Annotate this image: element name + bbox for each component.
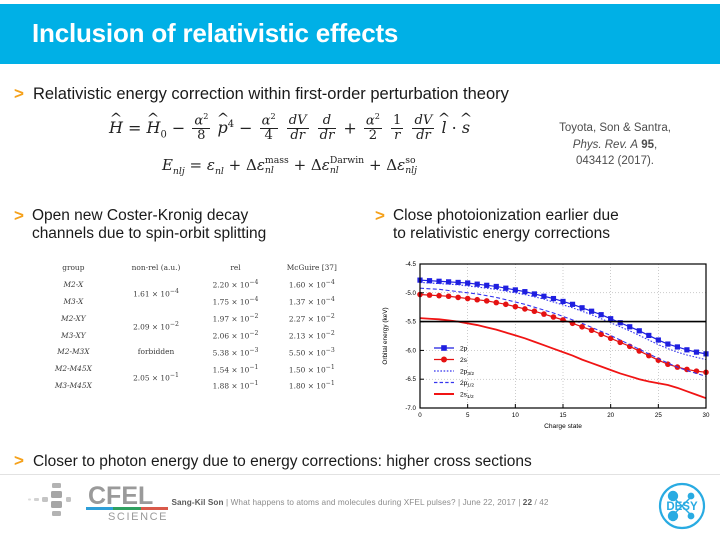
orbital-energy-plot: 051015202530-4.5-5.0-5.5-6.0-6.5-7.0Char… xyxy=(378,256,714,448)
bullet-item-4: >Closer to photon energy due to energy c… xyxy=(14,452,714,471)
footer-divider xyxy=(0,474,720,475)
cfel-logo-subtext: SCIENCE xyxy=(108,511,168,523)
footer-info: Sang-Kil Son | What happens to atoms and… xyxy=(0,498,720,507)
bullet-item-3-line2: to relativistic energy corrections xyxy=(393,225,610,242)
d-dr-fraction: d dr xyxy=(318,114,337,143)
cell-group: M2-XY xyxy=(32,310,115,327)
cell-nonrel: forbidden xyxy=(115,344,198,361)
footer-page-number: 22 xyxy=(523,498,532,507)
bullet-item-3-line1: Close photoionization earlier due xyxy=(393,207,619,224)
cell-mcguire: 5.50 × 10−3 xyxy=(274,344,350,361)
citation-journal-line: Phys. Rev. A 95, xyxy=(515,137,715,154)
citation-journal: Phys. Rev. A xyxy=(573,139,638,151)
svg-text:-5.0: -5.0 xyxy=(405,290,416,297)
cell-group: M3-M45X xyxy=(32,377,115,394)
coster-kronig-rates-table: group non-rel (a.u.) rel McGuire [37] M2… xyxy=(32,260,350,394)
cell-rel: 1.88 × 10−1 xyxy=(197,377,273,394)
alpha-squared-over-2-fraction: α2 2 xyxy=(364,112,382,143)
bullet-item-3-label: Close photoionization earlier dueto rela… xyxy=(393,207,693,244)
cell-group: M2-M45X xyxy=(32,360,115,377)
svg-text:-4.5: -4.5 xyxy=(405,261,416,268)
citation-comma: , xyxy=(654,139,657,151)
bullet-item-1-label: Relativistic energy correction within fi… xyxy=(33,85,509,103)
footer-author: Sang-Kil Son xyxy=(171,498,223,507)
svg-text:2s: 2s xyxy=(460,357,468,364)
cell-group: M3-X xyxy=(32,293,115,310)
cell-mcguire: 1.37 × 10−4 xyxy=(274,293,350,310)
dv-dr-fraction-2: dV dr xyxy=(412,114,434,143)
slide-header-bar: Inclusion of relativistic effects xyxy=(0,4,720,64)
cell-rel: 2.20 × 10−4 xyxy=(197,276,273,293)
svg-text:2p1/2: 2p1/2 xyxy=(460,380,474,389)
svg-text:-7.0: -7.0 xyxy=(405,405,416,412)
citation-pages: 043412 (2017). xyxy=(515,153,715,170)
svg-text:2p: 2p xyxy=(460,345,468,352)
svg-text:-5.5: -5.5 xyxy=(405,319,416,326)
table-row: M2-M45X 2.05 × 10−1 1.54 × 10−1 1.50 × 1… xyxy=(32,360,350,377)
footer-sep-2: | xyxy=(458,498,460,507)
svg-text:-6.0: -6.0 xyxy=(405,347,416,354)
bullet-arrow-icon: > xyxy=(14,207,24,224)
citation: Toyota, Son & Santra, Phys. Rev. A 95, 0… xyxy=(515,120,715,170)
cell-rel: 5.38 × 10−3 xyxy=(197,344,273,361)
cell-rel: 1.75 × 10−4 xyxy=(197,293,273,310)
cell-nonrel: 2.05 × 10−1 xyxy=(115,360,198,394)
svg-text:Charge state: Charge state xyxy=(544,423,582,430)
cell-rel: 1.54 × 10−1 xyxy=(197,360,273,377)
svg-text:15: 15 xyxy=(560,412,567,419)
table-row: M2-X 1.61 × 10−4 2.20 × 10−4 1.60 × 10−4 xyxy=(32,276,350,293)
table-col-group: group xyxy=(32,260,115,276)
desy-mark-icon: DESY xyxy=(658,482,706,530)
hamiltonian-equation: H = H0 − α2 8 p4 − α2 4 dV dr d dr + α2 … xyxy=(62,112,517,143)
bullet-item-4-label: Closer to photon energy due to energy co… xyxy=(33,453,532,470)
bullet-item-3: >Close photoionization earlier dueto rel… xyxy=(375,207,710,244)
bullet-arrow-icon: > xyxy=(14,85,24,102)
svg-text:0: 0 xyxy=(418,412,422,419)
alpha-squared-over-4-fraction: α2 4 xyxy=(260,112,278,143)
alpha-squared-over-8-fraction: α2 8 xyxy=(192,112,210,143)
cell-mcguire: 1.80 × 10−1 xyxy=(274,377,350,394)
svg-text:5: 5 xyxy=(466,412,470,419)
svg-text:20: 20 xyxy=(607,412,614,419)
svg-text:2s1/2: 2s1/2 xyxy=(460,391,474,400)
dv-dr-fraction: dV dr xyxy=(287,114,309,143)
footer-sep-3: | xyxy=(518,498,520,507)
desy-logo: DESY xyxy=(658,482,706,530)
energy-equation: Enlj = εnl + Δεmassnl + ΔεDarwinnl + Δεs… xyxy=(62,156,517,177)
one-over-r-fraction: 1 r xyxy=(391,114,403,143)
citation-volume: 95 xyxy=(641,139,654,151)
table-row: M2-XY 2.09 × 10−2 1.97 × 10−2 2.27 × 10−… xyxy=(32,310,350,327)
svg-text:10: 10 xyxy=(512,412,519,419)
svg-text:30: 30 xyxy=(703,412,710,419)
bullet-item-1: >Relativistic energy correction within f… xyxy=(14,85,704,104)
footer-talk-title: What happens to atoms and molecules duri… xyxy=(231,498,456,507)
cell-mcguire: 1.50 × 10−1 xyxy=(274,360,350,377)
table-col-nonrel: non-rel (a.u.) xyxy=(115,260,198,276)
cell-group: M2-X xyxy=(32,276,115,293)
bullet-arrow-icon: > xyxy=(375,207,385,224)
cell-group: M2-M3X xyxy=(32,344,115,361)
bullet-item-2: >Open new Coster-Kronig decaychannels du… xyxy=(14,207,359,244)
footer-sep-1: | xyxy=(226,498,228,507)
cell-nonrel: 2.09 × 10−2 xyxy=(115,310,198,344)
table-header-row: group non-rel (a.u.) rel McGuire [37] xyxy=(32,260,350,276)
footer-page-total: / 42 xyxy=(534,498,548,507)
bullet-arrow-icon: > xyxy=(14,452,24,469)
bullet-item-2-line2: channels due to spin-orbit splitting xyxy=(32,225,266,242)
cell-rel: 2.06 × 10−2 xyxy=(197,327,273,344)
orbital-energy-chart: 051015202530-4.5-5.0-5.5-6.0-6.5-7.0Char… xyxy=(378,256,714,448)
cell-group: M3-XY xyxy=(32,327,115,344)
footer-date: June 22, 2017 xyxy=(463,498,516,507)
cell-mcguire: 1.60 × 10−4 xyxy=(274,276,350,293)
cell-mcguire: 2.27 × 10−2 xyxy=(274,310,350,327)
svg-text:25: 25 xyxy=(655,412,662,419)
citation-authors: Toyota, Son & Santra, xyxy=(515,120,715,137)
bullet-item-2-line1: Open new Coster-Kronig decay xyxy=(32,207,248,224)
equation-block: H = H0 − α2 8 p4 − α2 4 dV dr d dr + α2 … xyxy=(62,112,517,177)
table-row: M2-M3X forbidden 5.38 × 10−3 5.50 × 10−3 xyxy=(32,344,350,361)
svg-text:Orbital energy (keV): Orbital energy (keV) xyxy=(382,307,389,364)
table-col-rel: rel xyxy=(197,260,273,276)
svg-text:-6.5: -6.5 xyxy=(405,376,416,383)
cell-nonrel: 1.61 × 10−4 xyxy=(115,276,198,310)
slide: Inclusion of relativistic effects >Relat… xyxy=(0,0,720,540)
cell-rel: 1.97 × 10−2 xyxy=(197,310,273,327)
bullet-item-2-label: Open new Coster-Kronig decaychannels due… xyxy=(32,207,332,244)
svg-text:2p3/2: 2p3/2 xyxy=(460,368,474,377)
svg-text:DESY: DESY xyxy=(666,501,698,513)
page-title: Inclusion of relativistic effects xyxy=(32,18,398,49)
cell-mcguire: 2.13 × 10−2 xyxy=(274,327,350,344)
table-col-mcguire: McGuire [37] xyxy=(274,260,350,276)
